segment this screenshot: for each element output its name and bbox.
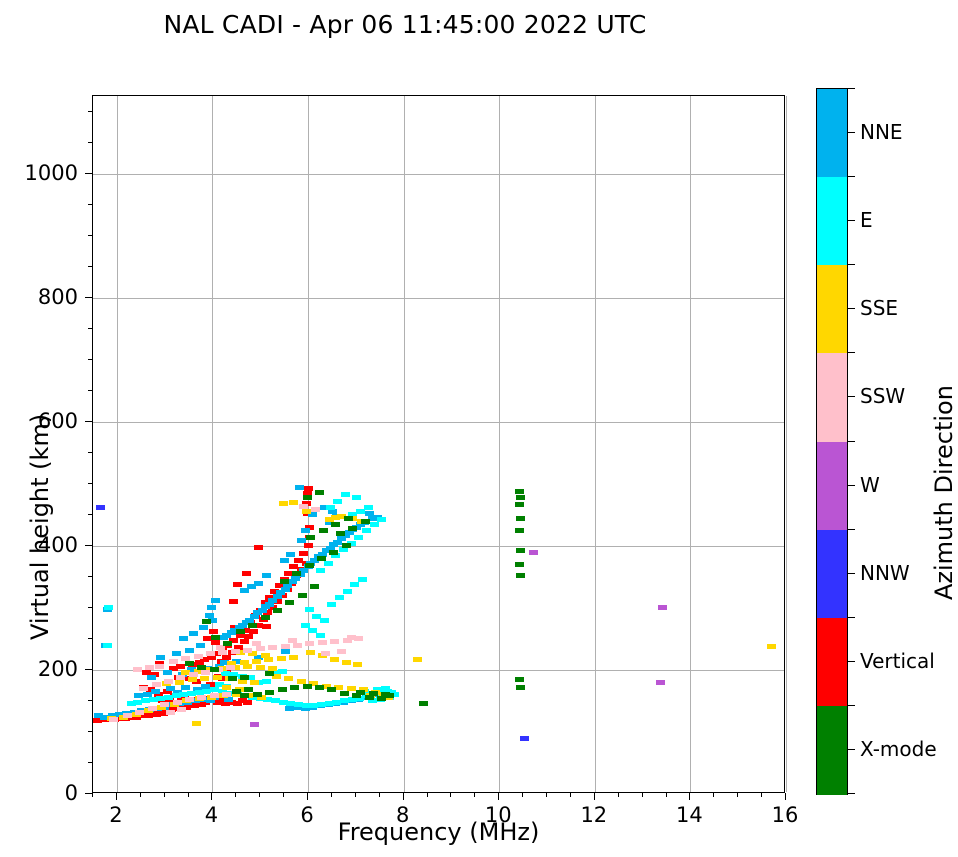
x-tick-major bbox=[594, 793, 595, 800]
data-point bbox=[189, 631, 198, 636]
x-tick-major bbox=[689, 793, 690, 800]
data-point bbox=[169, 659, 178, 664]
data-point bbox=[294, 558, 303, 563]
data-point bbox=[207, 605, 216, 610]
data-points-layer bbox=[93, 96, 784, 792]
colorbar-segment-w bbox=[817, 442, 847, 531]
data-point bbox=[163, 670, 172, 675]
data-point bbox=[352, 495, 361, 500]
y-tick-label: 200 bbox=[8, 657, 78, 681]
x-tick-minor bbox=[331, 793, 332, 797]
data-point bbox=[289, 655, 298, 660]
data-point bbox=[209, 629, 218, 634]
data-point bbox=[192, 721, 201, 726]
x-tick-minor bbox=[522, 793, 523, 797]
data-point bbox=[244, 634, 253, 639]
data-point bbox=[342, 543, 351, 548]
data-point bbox=[206, 651, 215, 656]
data-point bbox=[277, 656, 286, 661]
data-point bbox=[330, 657, 339, 662]
data-point bbox=[303, 684, 312, 689]
y-tick-major bbox=[85, 297, 92, 298]
data-point bbox=[515, 677, 524, 682]
colorbar-label-x-mode: X-mode bbox=[860, 737, 937, 761]
data-point bbox=[385, 693, 394, 698]
data-point bbox=[316, 568, 325, 573]
data-point bbox=[361, 519, 370, 524]
colorbar-tick bbox=[848, 396, 855, 397]
data-point bbox=[278, 687, 287, 692]
colorbar-boundary-tick bbox=[848, 705, 855, 706]
data-point bbox=[298, 593, 307, 598]
data-point bbox=[252, 641, 261, 646]
y-tick-major bbox=[85, 421, 92, 422]
page-title: NAL CADI - Apr 06 11:45:00 2022 UTC bbox=[0, 10, 810, 39]
data-point bbox=[156, 655, 165, 660]
colorbar-segment-ssw bbox=[817, 353, 847, 442]
data-point bbox=[253, 692, 262, 697]
data-point bbox=[280, 579, 289, 584]
data-point bbox=[185, 648, 194, 653]
data-point bbox=[177, 707, 186, 712]
data-point bbox=[327, 687, 336, 692]
data-point bbox=[353, 662, 362, 667]
data-point bbox=[516, 516, 525, 521]
data-point bbox=[515, 489, 524, 494]
data-point bbox=[264, 657, 273, 662]
x-tick-major bbox=[307, 793, 308, 800]
data-point bbox=[310, 584, 319, 589]
data-point bbox=[341, 492, 350, 497]
data-point bbox=[247, 584, 256, 589]
x-tick-major bbox=[785, 793, 786, 800]
data-point bbox=[254, 545, 263, 550]
data-point bbox=[213, 675, 222, 680]
data-point bbox=[279, 501, 288, 506]
data-point bbox=[197, 665, 206, 670]
x-tick-minor bbox=[713, 793, 714, 797]
colorbar-boundary-tick bbox=[848, 176, 855, 177]
data-point bbox=[205, 613, 214, 618]
data-point bbox=[133, 667, 142, 672]
data-point bbox=[262, 573, 271, 578]
data-point bbox=[262, 624, 271, 629]
data-point bbox=[306, 535, 315, 540]
colorbar-boundary-tick bbox=[848, 617, 855, 618]
data-point bbox=[229, 599, 238, 604]
data-point bbox=[194, 654, 203, 659]
data-point bbox=[315, 490, 324, 495]
colorbar-label-w: W bbox=[860, 473, 880, 497]
data-point bbox=[175, 680, 184, 685]
data-point bbox=[767, 644, 776, 649]
data-point bbox=[286, 552, 295, 557]
x-tick-minor bbox=[666, 793, 667, 797]
y-tick-minor bbox=[88, 328, 92, 329]
data-point bbox=[299, 504, 308, 509]
colorbar-boundary-tick bbox=[848, 352, 855, 353]
data-point bbox=[337, 649, 346, 654]
x-tick-minor bbox=[188, 793, 189, 797]
data-point bbox=[324, 561, 333, 566]
x-tick-minor bbox=[761, 793, 762, 797]
colorbar-label-e: E bbox=[860, 208, 873, 232]
data-point bbox=[242, 571, 251, 576]
x-tick-minor bbox=[642, 793, 643, 797]
data-point bbox=[364, 505, 373, 510]
data-point bbox=[226, 665, 235, 670]
x-tick-major bbox=[498, 793, 499, 800]
colorbar bbox=[816, 88, 848, 795]
data-point bbox=[223, 641, 232, 646]
data-point bbox=[232, 689, 241, 694]
plot-area bbox=[92, 95, 785, 793]
data-point bbox=[289, 500, 298, 505]
data-point bbox=[265, 690, 274, 695]
data-point bbox=[265, 671, 274, 676]
data-point bbox=[236, 629, 245, 634]
data-point bbox=[301, 528, 310, 533]
y-tick-minor bbox=[88, 731, 92, 732]
data-point bbox=[281, 649, 290, 654]
data-point bbox=[292, 571, 301, 576]
y-tick-minor bbox=[88, 390, 92, 391]
data-point bbox=[151, 689, 160, 694]
data-point bbox=[293, 643, 302, 648]
data-point bbox=[413, 657, 422, 662]
data-point bbox=[370, 522, 379, 527]
data-point bbox=[250, 680, 259, 685]
data-point bbox=[231, 649, 240, 654]
data-point bbox=[179, 636, 188, 641]
data-point bbox=[250, 614, 259, 619]
data-point bbox=[181, 685, 190, 690]
colorbar-label-nnw: NNW bbox=[860, 561, 910, 585]
data-point bbox=[515, 562, 524, 567]
data-point bbox=[656, 680, 665, 685]
x-tick-minor bbox=[474, 793, 475, 797]
data-point bbox=[281, 587, 290, 592]
data-point bbox=[222, 692, 231, 697]
y-tick-minor bbox=[88, 266, 92, 267]
data-point bbox=[250, 722, 259, 727]
data-point bbox=[197, 695, 206, 700]
data-point bbox=[304, 543, 313, 548]
x-tick-minor bbox=[283, 793, 284, 797]
y-tick-minor bbox=[88, 111, 92, 112]
data-point bbox=[189, 672, 198, 677]
data-point bbox=[196, 643, 205, 648]
data-point bbox=[248, 623, 257, 628]
data-point bbox=[155, 664, 164, 669]
data-point bbox=[356, 690, 365, 695]
data-point bbox=[262, 679, 271, 684]
colorbar-label-sse: SSE bbox=[860, 296, 898, 320]
data-point bbox=[354, 636, 363, 641]
colorbar-segment-x-mode bbox=[817, 706, 847, 795]
y-tick-minor bbox=[88, 607, 92, 608]
data-point bbox=[280, 558, 289, 563]
data-point bbox=[516, 548, 525, 553]
data-point bbox=[258, 608, 267, 613]
data-point bbox=[199, 625, 208, 630]
x-tick-minor bbox=[355, 793, 356, 797]
data-point bbox=[164, 679, 173, 684]
data-point bbox=[299, 551, 308, 556]
data-point bbox=[297, 538, 306, 543]
data-point bbox=[331, 522, 340, 527]
data-point bbox=[211, 598, 220, 603]
data-point bbox=[326, 505, 335, 510]
x-tick-minor bbox=[450, 793, 451, 797]
colorbar-tick bbox=[848, 308, 855, 309]
y-tick-minor bbox=[88, 204, 92, 205]
data-point bbox=[261, 653, 270, 658]
data-point bbox=[166, 710, 175, 715]
y-tick-minor bbox=[88, 638, 92, 639]
data-point bbox=[228, 676, 237, 681]
colorbar-label-vertical: Vertical bbox=[860, 649, 935, 673]
data-point bbox=[273, 608, 282, 613]
x-tick-minor bbox=[235, 793, 236, 797]
data-point bbox=[327, 602, 336, 607]
data-point bbox=[342, 660, 351, 665]
data-point bbox=[104, 605, 113, 610]
data-point bbox=[210, 667, 219, 672]
colorbar-tick bbox=[848, 749, 855, 750]
y-tick-major bbox=[85, 793, 92, 794]
data-point bbox=[240, 693, 249, 698]
data-point bbox=[135, 710, 144, 715]
data-point bbox=[288, 638, 297, 643]
y-tick-minor bbox=[88, 700, 92, 701]
data-point bbox=[109, 717, 118, 722]
data-point bbox=[301, 623, 310, 628]
data-point bbox=[330, 639, 339, 644]
x-tick-minor bbox=[570, 793, 571, 797]
colorbar-label-ssw: SSW bbox=[860, 384, 905, 408]
data-point bbox=[103, 643, 112, 648]
x-tick-major bbox=[211, 793, 212, 800]
colorbar-tick bbox=[848, 485, 855, 486]
colorbar-tick bbox=[848, 220, 855, 221]
colorbar-boundary-tick bbox=[848, 88, 855, 89]
data-point bbox=[516, 495, 525, 500]
x-tick-minor bbox=[92, 793, 93, 797]
x-tick-major bbox=[403, 793, 404, 800]
data-point bbox=[176, 675, 185, 680]
y-tick-label: 800 bbox=[8, 285, 78, 309]
x-tick-minor bbox=[164, 793, 165, 797]
data-point bbox=[273, 594, 282, 599]
data-point bbox=[304, 486, 313, 491]
data-point bbox=[529, 550, 538, 555]
colorbar-tick bbox=[848, 661, 855, 662]
data-point bbox=[305, 641, 314, 646]
data-point bbox=[185, 697, 194, 702]
data-point bbox=[320, 618, 329, 623]
data-point bbox=[317, 556, 326, 561]
data-point bbox=[185, 661, 194, 666]
data-point bbox=[285, 600, 294, 605]
data-point bbox=[289, 564, 298, 569]
data-point bbox=[303, 495, 312, 500]
x-tick-minor bbox=[379, 793, 380, 797]
data-point bbox=[306, 650, 315, 655]
data-point bbox=[381, 686, 390, 691]
x-tick-minor bbox=[618, 793, 619, 797]
data-point bbox=[160, 702, 169, 707]
data-point bbox=[265, 602, 274, 607]
data-point bbox=[354, 535, 363, 540]
colorbar-boundary-tick bbox=[848, 264, 855, 265]
data-point bbox=[96, 505, 105, 510]
data-point bbox=[321, 651, 330, 656]
x-tick-minor bbox=[427, 793, 428, 797]
data-point bbox=[358, 577, 367, 582]
x-tick-minor bbox=[546, 793, 547, 797]
data-point bbox=[211, 635, 220, 640]
data-point bbox=[147, 675, 156, 680]
colorbar-boundary-tick bbox=[848, 793, 855, 794]
data-point bbox=[348, 526, 357, 531]
x-axis-label: Frequency (MHz) bbox=[92, 818, 785, 846]
data-point bbox=[288, 579, 297, 584]
y-tick-label: 1000 bbox=[8, 161, 78, 185]
x-tick-minor bbox=[259, 793, 260, 797]
colorbar-title: Azimuth Direction bbox=[930, 385, 958, 600]
y-tick-minor bbox=[88, 483, 92, 484]
data-point bbox=[240, 675, 249, 680]
data-point bbox=[336, 531, 345, 536]
data-point bbox=[233, 582, 242, 587]
data-point bbox=[362, 528, 371, 533]
y-tick-major bbox=[85, 545, 92, 546]
data-point bbox=[219, 635, 228, 640]
data-point bbox=[218, 650, 227, 655]
x-tick-minor bbox=[737, 793, 738, 797]
data-point bbox=[261, 615, 270, 620]
data-point bbox=[244, 687, 253, 692]
y-tick-label: 0 bbox=[8, 781, 78, 805]
data-point bbox=[268, 645, 277, 650]
data-point bbox=[256, 646, 265, 651]
data-point bbox=[148, 706, 157, 711]
data-point bbox=[222, 685, 231, 690]
data-point bbox=[516, 573, 525, 578]
colorbar-tick bbox=[848, 132, 855, 133]
data-point bbox=[281, 644, 290, 649]
gridline-vertical bbox=[786, 96, 787, 792]
y-tick-minor bbox=[88, 142, 92, 143]
data-point bbox=[340, 691, 349, 696]
data-point bbox=[252, 659, 261, 664]
data-point bbox=[188, 677, 197, 682]
data-point bbox=[515, 528, 524, 533]
colorbar-tick bbox=[848, 573, 855, 574]
data-point bbox=[515, 502, 524, 507]
y-tick-minor bbox=[88, 359, 92, 360]
data-point bbox=[658, 605, 667, 610]
data-point bbox=[240, 660, 249, 665]
y-tick-minor bbox=[88, 514, 92, 515]
data-point bbox=[311, 507, 320, 512]
data-point bbox=[172, 651, 181, 656]
data-point bbox=[343, 589, 352, 594]
colorbar-segment-nnw bbox=[817, 530, 847, 619]
data-point bbox=[369, 691, 378, 696]
data-point bbox=[139, 686, 148, 691]
data-point bbox=[305, 607, 314, 612]
data-point bbox=[305, 563, 314, 568]
data-point bbox=[319, 528, 328, 533]
y-tick-major bbox=[85, 173, 92, 174]
data-point bbox=[520, 736, 529, 741]
data-point bbox=[318, 640, 327, 645]
y-tick-minor bbox=[88, 762, 92, 763]
data-point bbox=[516, 685, 525, 690]
data-point bbox=[335, 595, 344, 600]
data-point bbox=[333, 499, 342, 504]
data-point bbox=[243, 648, 252, 653]
data-point bbox=[173, 700, 182, 705]
data-point bbox=[152, 682, 161, 687]
data-point bbox=[329, 550, 338, 555]
data-point bbox=[200, 676, 209, 681]
data-point bbox=[377, 517, 386, 522]
data-point bbox=[344, 516, 353, 521]
data-point bbox=[350, 582, 359, 587]
data-point bbox=[315, 685, 324, 690]
data-point bbox=[316, 633, 325, 638]
colorbar-segment-nne bbox=[817, 89, 847, 178]
x-tick-minor bbox=[140, 793, 141, 797]
data-point bbox=[210, 693, 219, 698]
colorbar-boundary-tick bbox=[848, 529, 855, 530]
data-point bbox=[123, 713, 132, 718]
x-tick-major bbox=[116, 793, 117, 800]
colorbar-segment-vertical bbox=[817, 618, 847, 707]
colorbar-segment-e bbox=[817, 177, 847, 266]
data-point bbox=[145, 665, 154, 670]
data-point bbox=[240, 639, 249, 644]
y-tick-minor bbox=[88, 235, 92, 236]
y-tick-minor bbox=[88, 576, 92, 577]
data-point bbox=[243, 700, 252, 705]
y-axis-label: Virtual height (km) bbox=[26, 414, 54, 640]
data-point bbox=[290, 685, 299, 690]
colorbar-label-nne: NNE bbox=[860, 120, 903, 144]
data-point bbox=[302, 509, 311, 514]
data-point bbox=[295, 485, 304, 490]
data-point bbox=[202, 619, 211, 624]
data-point bbox=[284, 676, 293, 681]
data-point bbox=[256, 665, 265, 670]
colorbar-segment-sse bbox=[817, 265, 847, 354]
y-tick-major bbox=[85, 669, 92, 670]
data-point bbox=[419, 701, 428, 706]
colorbar-boundary-tick bbox=[848, 441, 855, 442]
y-tick-minor bbox=[88, 452, 92, 453]
